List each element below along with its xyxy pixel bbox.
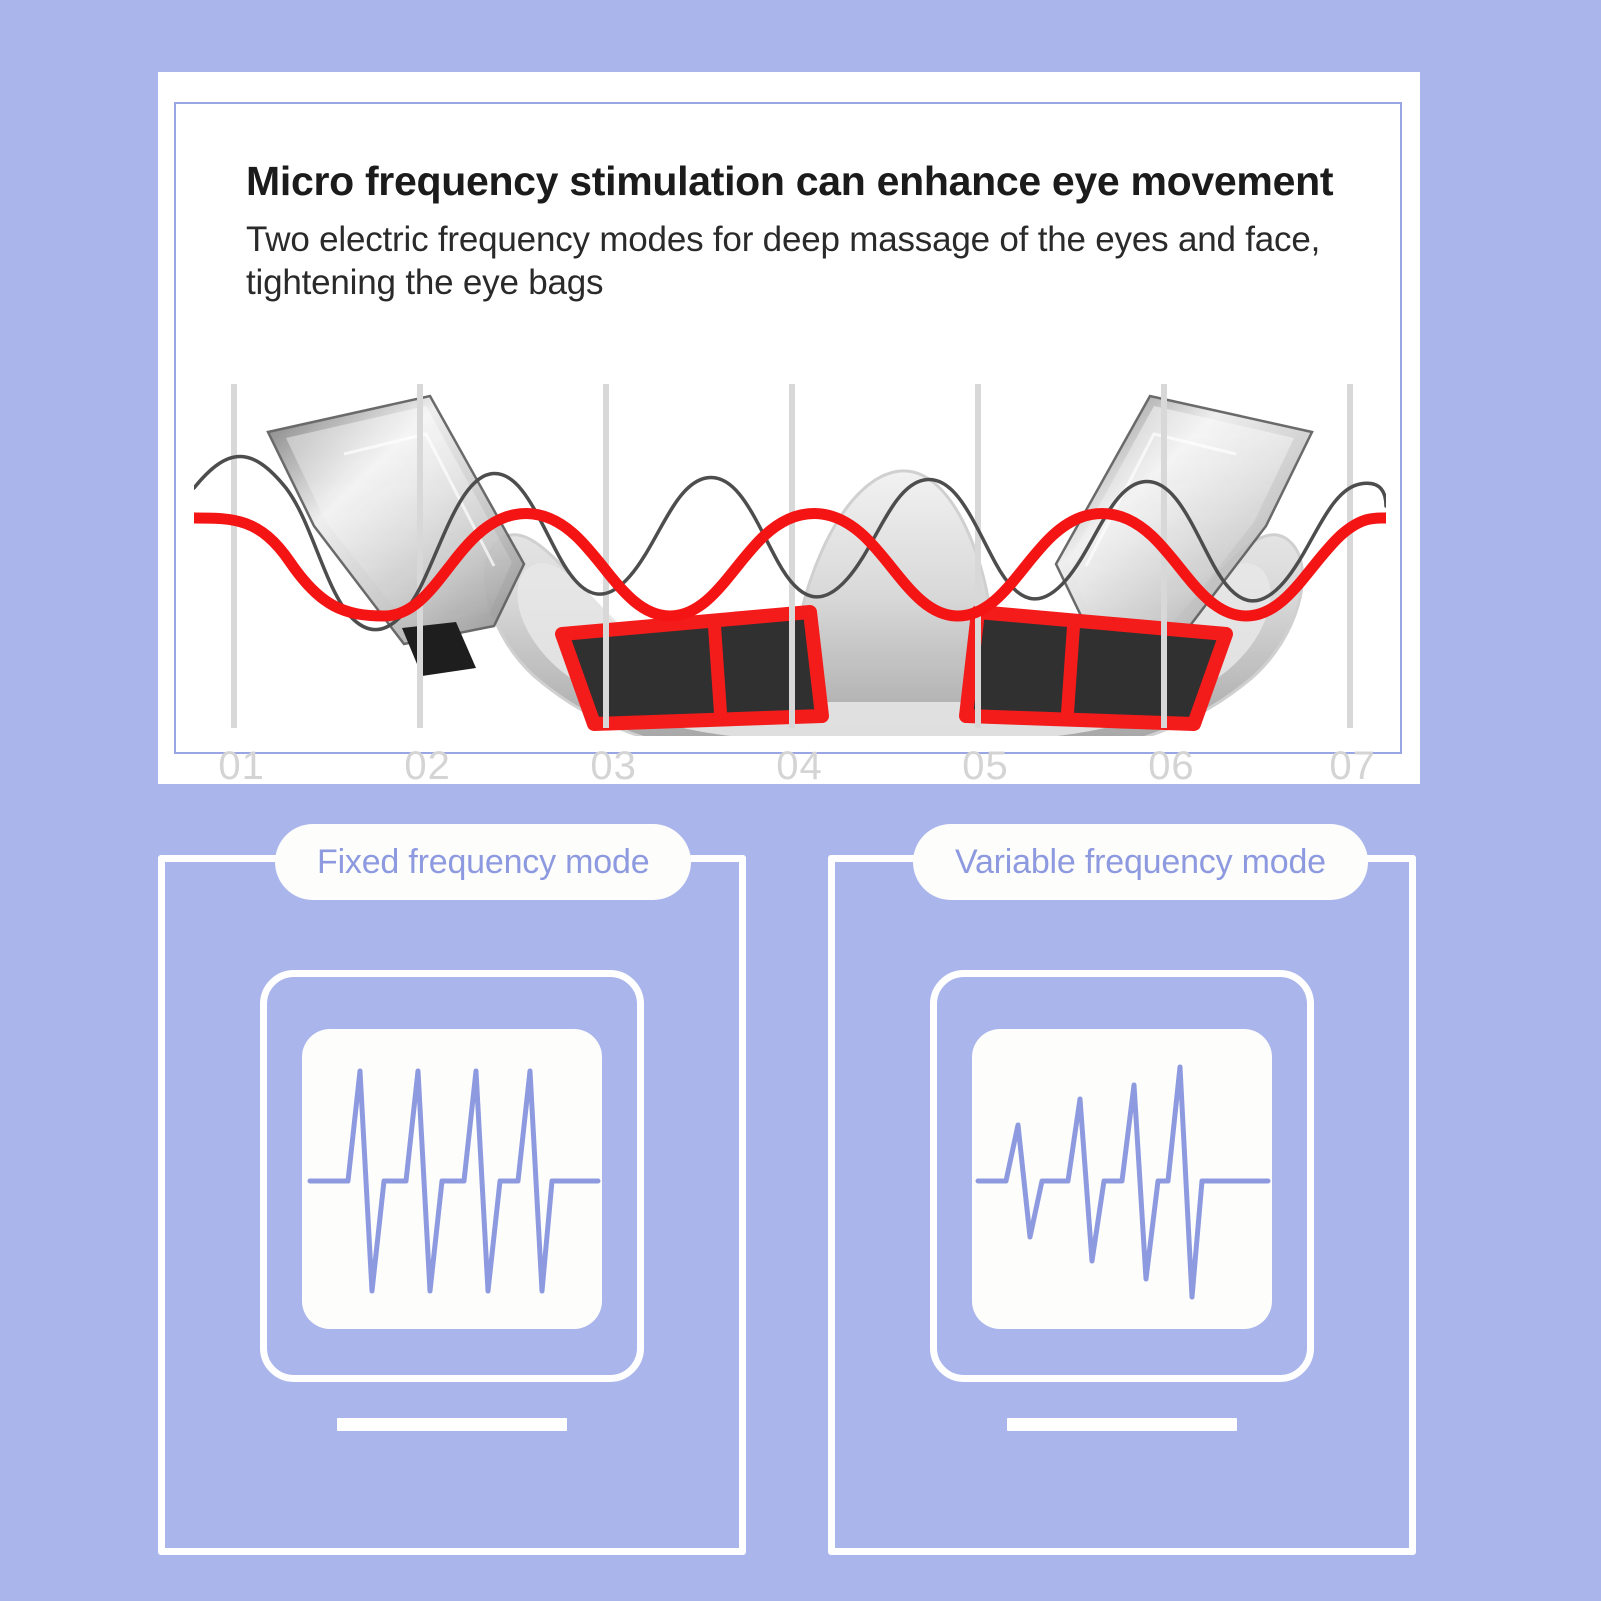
caption-bar-fixed: [337, 1418, 567, 1431]
pill-fixed-label: Fixed frequency mode: [317, 843, 649, 882]
right-red-pad: [966, 612, 1226, 724]
pill-variable-label: Variable frequency mode: [955, 843, 1326, 882]
axis-tick-07: 07: [1329, 744, 1376, 789]
caption-bar-variable: [1007, 1418, 1237, 1431]
top-card-inner-border: Micro frequency stimulation can enhance …: [174, 102, 1402, 754]
wave-card-fixed: [302, 1029, 602, 1329]
left-red-pad: [562, 612, 822, 724]
chart-svg: [194, 376, 1386, 736]
axis-tick-04: 04: [776, 744, 823, 789]
axis-tick-06: 06: [1148, 744, 1195, 789]
chart-axis-labels: 01 02 03 04 05 06 07: [194, 744, 1386, 804]
axis-tick-02: 02: [404, 744, 451, 789]
variable-frequency-waveform-icon: [972, 1029, 1272, 1329]
pill-fixed-frequency-mode: Fixed frequency mode: [275, 824, 691, 900]
panel-fixed-frequency-mode: Fixed frequency mode: [158, 855, 746, 1555]
top-card: Micro frequency stimulation can enhance …: [158, 72, 1420, 784]
fixed-frequency-waveform-icon: [302, 1029, 602, 1329]
frequency-chart: [194, 376, 1386, 736]
panel-variable-frequency-mode: Variable frequency mode: [828, 855, 1416, 1555]
axis-tick-01: 01: [218, 744, 265, 789]
page-subtitle: Two electric frequency modes for deep ma…: [246, 219, 1376, 304]
pill-variable-frequency-mode: Variable frequency mode: [913, 824, 1368, 900]
wave-frame-fixed: [260, 970, 644, 1382]
wave-frame-variable: [930, 970, 1314, 1382]
wave-card-variable: [972, 1029, 1272, 1329]
axis-tick-05: 05: [962, 744, 1009, 789]
device-left-arm: [268, 396, 524, 676]
page-title: Micro frequency stimulation can enhance …: [246, 158, 1346, 205]
axis-tick-03: 03: [590, 744, 637, 789]
